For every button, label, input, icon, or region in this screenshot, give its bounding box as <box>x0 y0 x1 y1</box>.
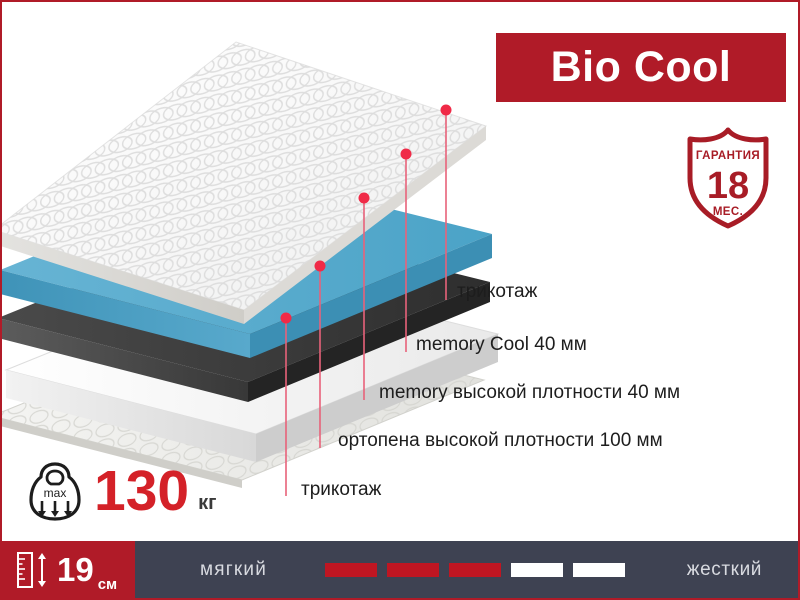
layer-label-trikotazh-top: трикотаж <box>457 282 537 301</box>
guarantee-top-text: ГАРАНТИЯ <box>696 150 760 162</box>
product-title: Bio Cool <box>551 46 732 89</box>
layer-label-trikotazh-bottom: трикотаж <box>301 480 381 499</box>
height-unit: см <box>98 576 117 598</box>
guarantee-unit: МЕС. <box>713 206 743 218</box>
height-block: 19 см <box>2 541 135 598</box>
height-value: 19 <box>57 553 94 586</box>
firmness-segment <box>511 563 563 577</box>
bottom-info-bar: 19 см мягкий жесткий <box>2 541 798 598</box>
firmness-soft-label: мягкий <box>200 559 267 581</box>
layer-label-memory-cool: memory Cool 40 мм <box>416 335 587 354</box>
firmness-segment <box>573 563 625 577</box>
guarantee-value: 18 <box>707 165 749 207</box>
firmness-segment <box>449 563 501 577</box>
product-title-banner: Bio Cool <box>496 33 786 102</box>
firmness-block: мягкий жесткий <box>135 541 798 598</box>
max-weight-block: max 130 кг <box>28 460 216 522</box>
firmness-scale <box>325 563 625 577</box>
firmness-firm-label: жесткий <box>687 559 762 581</box>
max-weight-value: 130 <box>94 463 189 520</box>
guarantee-badge: ГАРАНТИЯ 18 МЕС. <box>680 126 776 230</box>
product-infographic: Bio Cool ГАРАНТИЯ 18 МЕС. <box>0 0 800 600</box>
ruler-icon <box>16 550 50 590</box>
layer-label-ortopena: ортопена высокой плотности 100 мм <box>338 431 663 450</box>
kettlebell-max-text: max <box>44 486 67 500</box>
kettlebell-icon: max <box>28 460 82 522</box>
max-weight-unit: кг <box>198 492 216 522</box>
mattress-layers-illustration <box>0 18 504 488</box>
firmness-segment <box>325 563 377 577</box>
layer-label-memory-hd: memory высокой плотности 40 мм <box>379 383 680 402</box>
firmness-segment <box>387 563 439 577</box>
